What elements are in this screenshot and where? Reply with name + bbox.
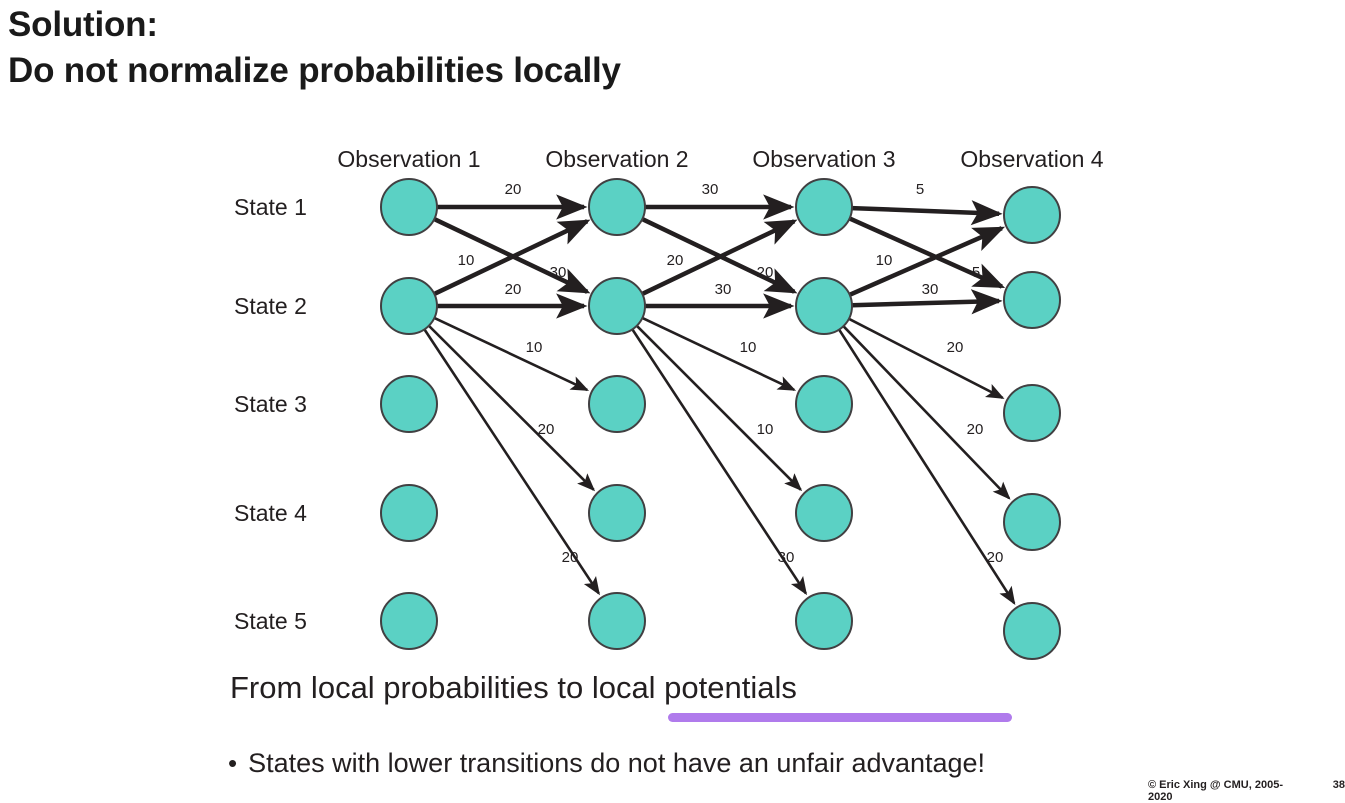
caption-text: From local probabilities to local potent… <box>230 670 797 706</box>
transition-edge <box>843 326 1009 498</box>
slide-title: Solution: Do not normalize probabilities… <box>8 2 1108 94</box>
nodes-group <box>381 179 1060 659</box>
transition-edge <box>637 326 801 490</box>
edge-weight-label: 10 <box>757 421 774 438</box>
transition-edge <box>434 318 587 390</box>
state-node <box>796 179 852 235</box>
edge-weight-label: 30 <box>922 281 939 298</box>
state-node <box>796 593 852 649</box>
edge-weight-label: 20 <box>967 421 984 438</box>
state-node <box>381 376 437 432</box>
observation-header-2: Observation 2 <box>545 146 688 172</box>
state-row-label-4: State 4 <box>234 500 307 526</box>
transition-edge <box>642 219 794 292</box>
transition-edge <box>850 228 1002 295</box>
edge-labels-group: 2030102010202030202030101030551030202020 <box>458 181 1004 566</box>
edge-weight-label: 20 <box>667 252 684 269</box>
state-node <box>589 179 645 235</box>
edges-group <box>424 207 1014 603</box>
bullet-marker-icon: • <box>228 750 237 776</box>
observation-header-3: Observation 3 <box>752 146 895 172</box>
state-node <box>1004 187 1060 243</box>
state-node <box>381 179 437 235</box>
state-node <box>381 593 437 649</box>
transition-edge <box>839 330 1014 604</box>
edge-weight-label: 30 <box>702 181 719 198</box>
bullet-list-item: • States with lower transitions do not h… <box>228 748 985 779</box>
edge-weight-label: 20 <box>538 421 555 438</box>
edge-weight-label: 20 <box>505 281 522 298</box>
footer-page-number: 38 <box>1333 779 1345 791</box>
caption-underline-highlight <box>668 713 1012 722</box>
edge-weight-label: 30 <box>778 549 795 566</box>
edge-weight-label: 20 <box>757 264 774 281</box>
transition-edge <box>642 318 794 390</box>
state-node <box>589 485 645 541</box>
edge-weight-label: 10 <box>526 339 543 356</box>
state-node <box>1004 272 1060 328</box>
transition-edge <box>850 218 1002 286</box>
transition-edge <box>434 221 587 294</box>
transition-edge <box>642 221 794 294</box>
state-node <box>796 376 852 432</box>
observation-headers-group: Observation 1Observation 2Observation 3O… <box>337 146 1103 172</box>
edge-weight-label: 10 <box>876 252 893 269</box>
title-line-1: Solution: <box>8 2 1108 48</box>
state-node <box>589 593 645 649</box>
footer-copyright: © Eric Xing @ CMU, 2005-2020 <box>1148 779 1307 803</box>
transition-edge <box>434 219 587 292</box>
transition-edge <box>429 326 594 490</box>
edge-weight-label: 30 <box>550 264 567 281</box>
edge-weight-label: 10 <box>740 339 757 356</box>
edge-weight-label: 20 <box>562 549 579 566</box>
edge-weight-label: 5 <box>972 264 980 281</box>
state-row-label-2: State 2 <box>234 293 307 319</box>
state-node <box>1004 385 1060 441</box>
state-node <box>589 376 645 432</box>
state-row-label-5: State 5 <box>234 608 307 634</box>
edge-weight-label: 20 <box>505 181 522 198</box>
state-row-label-3: State 3 <box>234 391 307 417</box>
transition-edge <box>852 208 999 214</box>
transition-edge <box>852 301 999 305</box>
state-node <box>796 278 852 334</box>
state-node <box>796 485 852 541</box>
state-labels-group: State 1State 2State 3State 4State 5 <box>234 194 307 634</box>
title-line-2: Do not normalize probabilities locally <box>8 48 1108 94</box>
edge-weight-label: 20 <box>947 339 964 356</box>
edge-weight-label: 20 <box>987 549 1004 566</box>
state-node <box>589 278 645 334</box>
observation-header-4: Observation 4 <box>960 146 1103 172</box>
edge-weight-label: 5 <box>916 181 924 198</box>
edge-weight-label: 30 <box>715 281 732 298</box>
transition-edge <box>849 319 1003 398</box>
state-node <box>1004 603 1060 659</box>
state-node <box>381 485 437 541</box>
edge-weight-label: 10 <box>458 252 475 269</box>
state-row-label-1: State 1 <box>234 194 307 220</box>
observation-header-1: Observation 1 <box>337 146 480 172</box>
state-node <box>1004 494 1060 550</box>
bullet-item-text: States with lower transitions do not hav… <box>248 748 985 779</box>
transition-edge <box>424 329 598 593</box>
transition-edge <box>632 329 806 593</box>
state-node <box>381 278 437 334</box>
slide-footer: © Eric Xing @ CMU, 2005-2020 38 <box>1148 779 1345 803</box>
